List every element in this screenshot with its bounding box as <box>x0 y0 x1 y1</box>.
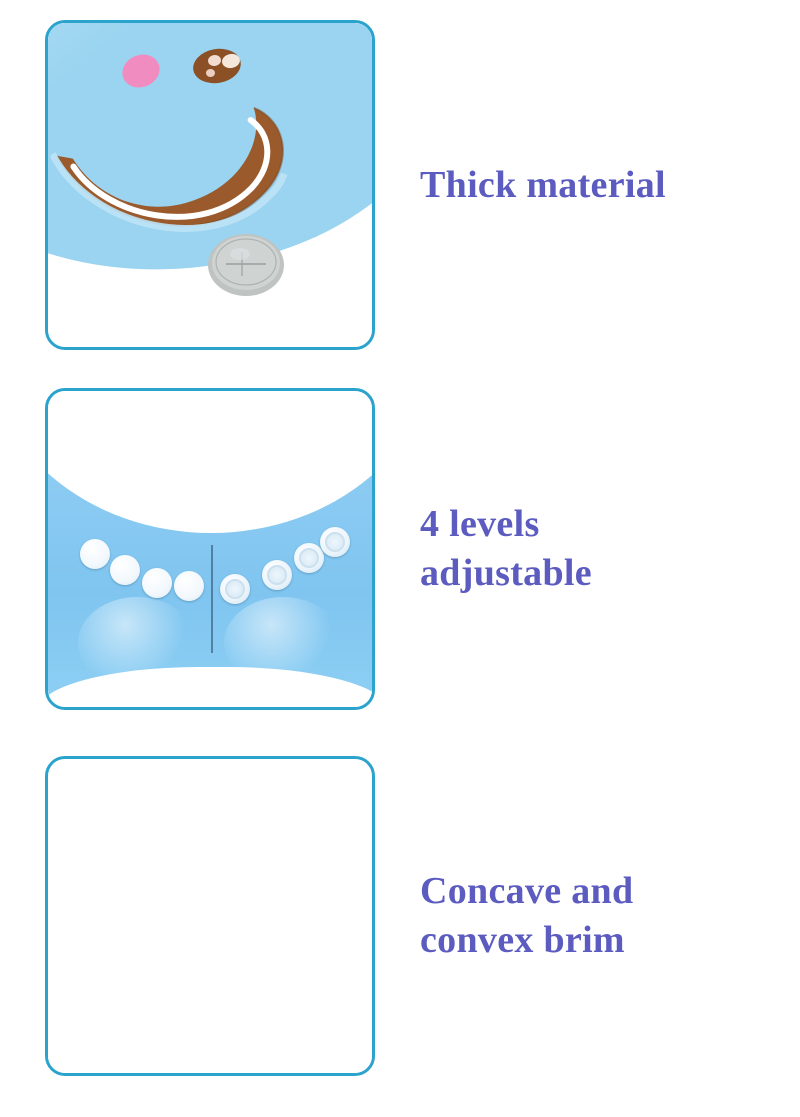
feature-row-thick-material: Thick material <box>0 20 800 350</box>
snap-socket-1[interactable] <box>220 574 250 604</box>
snap-socket-4[interactable] <box>320 527 350 557</box>
snap-stud-4[interactable] <box>174 571 204 601</box>
product-feature-page: Thick material <box>0 0 800 1117</box>
feature-caption-concave-convex: Concave and convex brim <box>375 867 800 964</box>
panel-background <box>48 759 372 1073</box>
nose-highlight-tiny <box>206 69 215 77</box>
snap-socket-3[interactable] <box>294 543 324 573</box>
photo-concave-convex <box>48 759 372 1073</box>
cap-center-seam <box>211 545 213 653</box>
snap-stud-2[interactable] <box>110 555 140 585</box>
photo-frame-thick-material <box>45 20 375 350</box>
feature-caption-adjustable: 4 levels adjustable <box>375 500 800 597</box>
feature-row-concave-convex: Concave and convex brim <box>0 756 800 1076</box>
brim-crescent <box>48 92 317 250</box>
photo-adjustable <box>48 391 372 707</box>
coin-scale-reference <box>206 228 286 302</box>
feature-row-adjustable: 4 levels adjustable <box>0 388 800 710</box>
snap-stud-1[interactable] <box>80 539 110 569</box>
feature-caption-thick-material: Thick material <box>375 161 800 210</box>
photo-frame-concave-convex <box>45 756 375 1076</box>
snap-stud-3[interactable] <box>142 568 172 598</box>
snap-socket-2[interactable] <box>262 560 292 590</box>
photo-frame-adjustable <box>45 388 375 710</box>
photo-thick-material <box>48 23 372 347</box>
